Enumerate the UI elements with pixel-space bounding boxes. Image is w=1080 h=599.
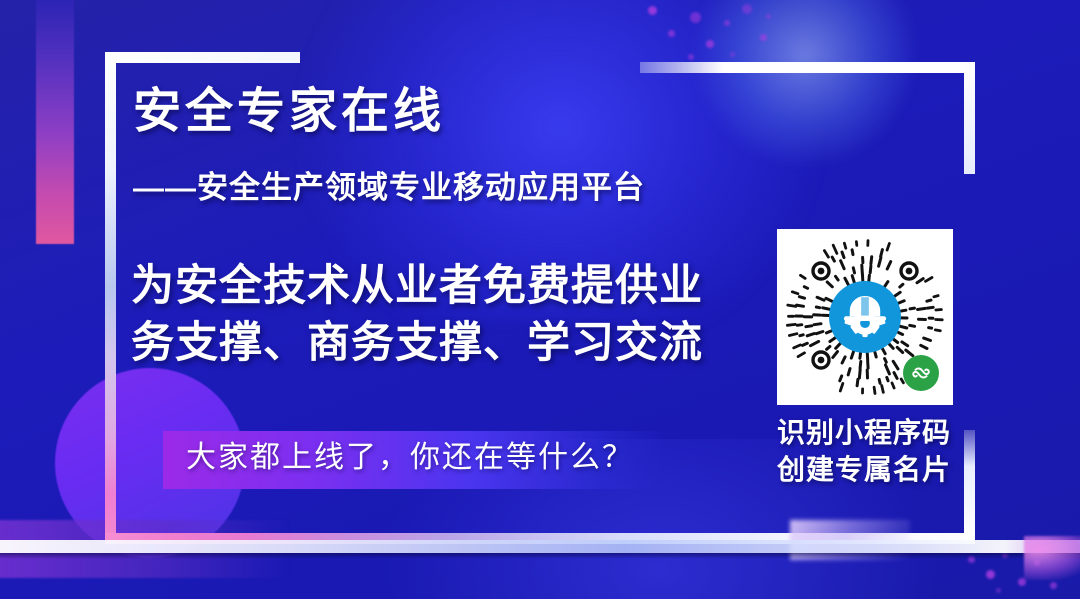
headline-line-1: 为安全技术从业者免费提供业 (131, 258, 703, 315)
headline-block: 为安全技术从业者免费提供业 务支撑、商务支撑、学习交流 (131, 258, 703, 372)
bottom-light-strip (0, 540, 1080, 553)
tagline-text: 大家都上线了，你还在等什么？ (186, 443, 634, 473)
wechat-miniprogram-icon (903, 355, 939, 391)
page-title: 安全专家在线 (133, 88, 445, 136)
page-subtitle: ——安全生产领域专业移动应用平台 (133, 172, 645, 203)
frame-top-left-segment (105, 52, 300, 63)
frame-right-upper-segment (964, 62, 975, 174)
magenta-corner-decor (1024, 536, 1080, 580)
qr-caption: 识别小程序码 创建专属名片 (777, 415, 967, 489)
safety-helmet-gear-icon (829, 281, 901, 353)
qr-caption-line-1: 识别小程序码 (777, 415, 967, 452)
promo-banner: 安全专家在线 ——安全生产领域专业移动应用平台 为安全技术从业者免费提供业 务支… (0, 0, 1080, 599)
qr-code-panel[interactable] (777, 229, 953, 405)
bottom-strip-shadow (0, 553, 1080, 559)
headline-line-2: 务支撑、商务支撑、学习交流 (131, 315, 703, 372)
frame-left-edge (105, 52, 116, 544)
qr-caption-line-2: 创建专属名片 (777, 452, 967, 489)
frame-top-right-segment (640, 62, 975, 73)
